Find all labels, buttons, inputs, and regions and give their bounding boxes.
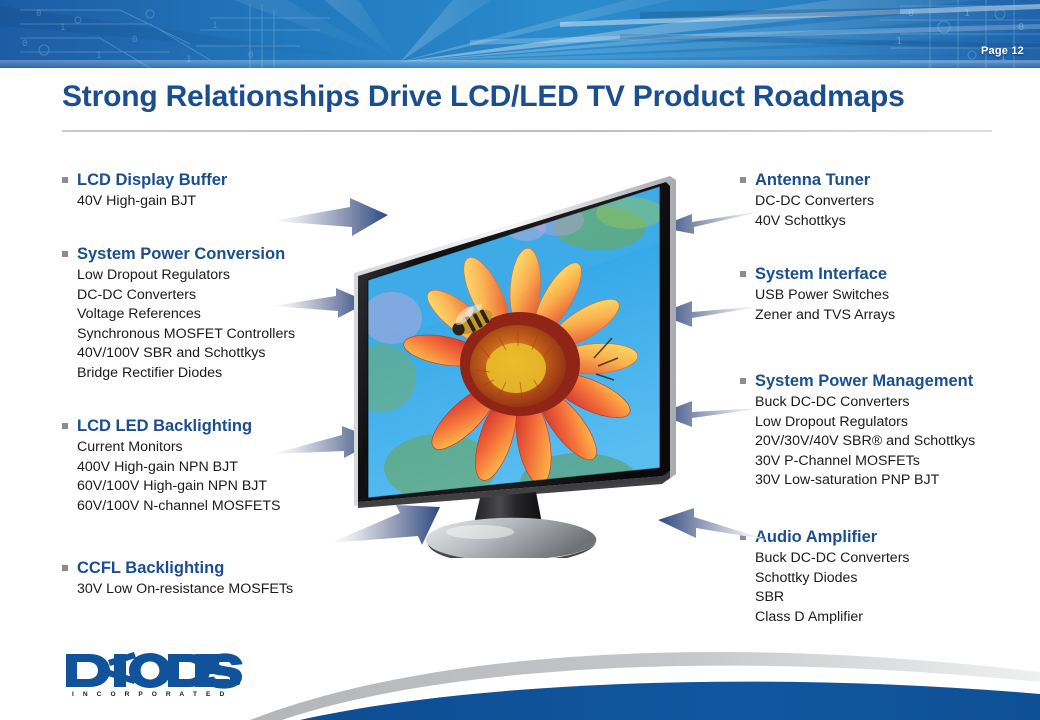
list-item: Synchronous MOSFET Controllers [77, 325, 295, 345]
list-item: DC-DC Converters [755, 192, 874, 212]
list-item: 30V P-Channel MOSFETs [755, 452, 975, 472]
logo-wordmark [66, 652, 243, 689]
block-items: Low Dropout Regulators DC-DC Converters … [77, 266, 295, 383]
list-item: Low Dropout Regulators [755, 413, 975, 433]
list-item: 400V High-gain NPN BJT [77, 458, 280, 478]
square-bullet-icon [62, 251, 68, 257]
heading-text: LCD LED Backlighting [77, 417, 252, 435]
block-heading: System Power Management [740, 371, 975, 391]
list-item: Class D Amplifier [755, 608, 910, 628]
heading-text: System Power Management [755, 372, 973, 390]
square-bullet-icon [62, 423, 68, 429]
square-bullet-icon [62, 565, 68, 571]
block-heading: Antenna Tuner [740, 170, 874, 190]
svg-text:1: 1 [896, 36, 902, 47]
list-item: 30V Low-saturation PNP BJT [755, 471, 975, 491]
heading-text: CCFL Backlighting [77, 559, 224, 577]
block-lcd-led-backlighting: LCD LED Backlighting Current Monitors 40… [62, 416, 280, 516]
list-item: Schottky Diodes [755, 569, 910, 589]
svg-text:0: 0 [908, 8, 914, 19]
title-divider [62, 130, 992, 132]
list-item: Low Dropout Regulators [77, 266, 295, 286]
heading-text: Audio Amplifier [755, 528, 877, 546]
diodes-incorporated-logo: I N C O R P O R A T E D [64, 650, 244, 698]
block-heading: System Interface [740, 264, 895, 284]
page-number: Page 12 [981, 45, 1024, 57]
square-bullet-icon [740, 271, 746, 277]
page-title: Strong Relationships Drive LCD/LED TV Pr… [62, 80, 992, 114]
svg-text:1: 1 [964, 8, 970, 19]
svg-text:0: 0 [1018, 22, 1024, 33]
list-item: 40V Schottkys [755, 212, 874, 232]
logo-tagline: I N C O R P O R A T E D [72, 691, 228, 698]
block-heading: System Power Conversion [62, 244, 295, 264]
svg-text:0: 0 [36, 9, 41, 19]
svg-text:0: 0 [22, 39, 27, 49]
block-items: USB Power Switches Zener and TVS Arrays [755, 286, 895, 325]
svg-text:0: 0 [132, 35, 137, 45]
list-item: 40V/100V SBR and Schottkys [77, 344, 295, 364]
list-item: Buck DC-DC Converters [755, 393, 975, 413]
list-item: 20V/30V/40V SBR® and Schottkys [755, 432, 975, 452]
heading-text: System Power Conversion [77, 245, 285, 263]
heading-text: Antenna Tuner [755, 171, 870, 189]
list-item: Bridge Rectifier Diodes [77, 364, 295, 384]
block-items: 30V Low On-resistance MOSFETs [77, 580, 293, 600]
square-bullet-icon [740, 177, 746, 183]
heading-text: System Interface [755, 265, 887, 283]
heading-text: LCD Display Buffer [77, 171, 227, 189]
list-item: Voltage References [77, 305, 295, 325]
banner-bottom-highlight [0, 60, 1040, 68]
block-items: DC-DC Converters 40V Schottkys [755, 192, 874, 231]
slide: 010 101 10 010 11 Page 12 Strong Relatio… [0, 0, 1040, 720]
list-item: DC-DC Converters [77, 286, 295, 306]
lcd-led-television [330, 168, 690, 558]
list-item: Buck DC-DC Converters [755, 549, 910, 569]
list-item: 60V/100V High-gain NPN BJT [77, 477, 280, 497]
banner-light-rays: 010 101 10 010 11 [0, 0, 1040, 68]
block-ccfl-backlighting: CCFL Backlighting 30V Low On-resistance … [62, 558, 293, 600]
svg-text:1: 1 [60, 23, 65, 33]
list-item: SBR [755, 588, 910, 608]
list-item: 30V Low On-resistance MOSFETs [77, 580, 293, 600]
block-items: 40V High-gain BJT [77, 192, 227, 212]
list-item: 40V High-gain BJT [77, 192, 227, 212]
list-item: USB Power Switches [755, 286, 895, 306]
square-bullet-icon [62, 177, 68, 183]
list-item: 60V/100V N-channel MOSFETS [77, 497, 280, 517]
block-items: Current Monitors 400V High-gain NPN BJT … [77, 438, 280, 516]
block-lcd-display-buffer: LCD Display Buffer 40V High-gain BJT [62, 170, 227, 212]
block-items: Buck DC-DC Converters Low Dropout Regula… [755, 393, 975, 491]
block-items: Buck DC-DC Converters Schottky Diodes SB… [755, 549, 910, 627]
list-item: Current Monitors [77, 438, 280, 458]
block-heading: CCFL Backlighting [62, 558, 293, 578]
list-item: Zener and TVS Arrays [755, 306, 895, 326]
block-system-power-conversion: System Power Conversion Low Dropout Regu… [62, 244, 295, 383]
registered-mark-icon [236, 681, 240, 685]
block-system-power-management: System Power Management Buck DC-DC Conve… [740, 371, 975, 491]
block-heading: LCD LED Backlighting [62, 416, 280, 436]
block-heading: LCD Display Buffer [62, 170, 227, 190]
square-bullet-icon [740, 378, 746, 384]
svg-text:1: 1 [212, 21, 217, 31]
header-banner: 010 101 10 010 11 [0, 0, 1040, 68]
